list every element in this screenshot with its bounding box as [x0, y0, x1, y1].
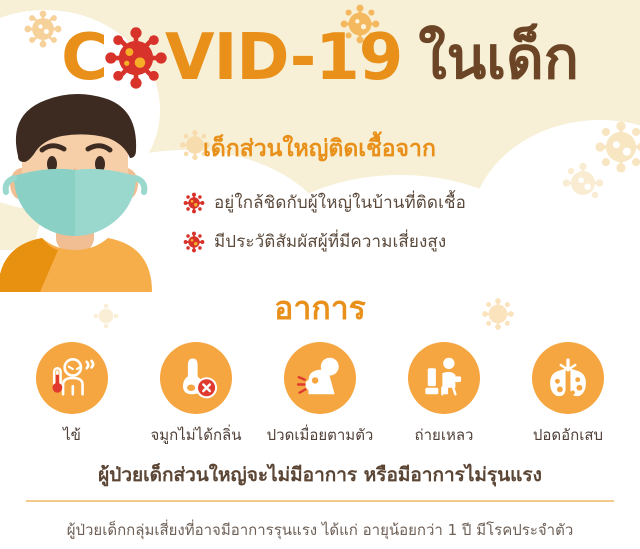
page-title: C VI	[0, 18, 640, 98]
body-ache-icon	[284, 342, 356, 414]
symptom-item-pneumonia: ปอดอักเสบ	[510, 342, 626, 447]
infographic-page: C VI	[0, 0, 640, 549]
symptoms-row: ไข้ จมูกไม่ได้กลิ่น	[14, 342, 626, 447]
symptom-label: ไข้	[63, 423, 81, 447]
list-item: อยู่ใกล้ชิดกับผู้ใหญ่ในบ้านที่ติดเชื้อ	[183, 183, 623, 222]
virus-bullet-icon	[183, 231, 205, 253]
pneumonia-icon	[532, 342, 604, 414]
symptom-item-diarrhea: ถ่ายเหลว	[386, 342, 502, 447]
list-item: มีประวัติสัมผัสผู้ที่มีความเสี่ยงสูง	[183, 222, 623, 261]
symptom-label: จมูกไม่ได้กลิ่น	[150, 423, 241, 447]
footnote-text: ผู้ป่วยเด็กกลุ่มเสี่ยงที่อาจมีอาการรุนแร…	[0, 518, 640, 542]
symptoms-heading: อาการ	[0, 283, 640, 334]
statement-text: ผู้ป่วยเด็กส่วนใหญ่จะไม่มีอาการ หรือมีอา…	[0, 460, 640, 490]
fever-icon	[36, 342, 108, 414]
boy-wearing-mask-illustration	[0, 92, 164, 292]
list-item-label: มีประวัติสัมผัสผู้ที่มีความเสี่ยงสูง	[214, 228, 446, 255]
symptom-label: ถ่ายเหลว	[415, 423, 474, 447]
diarrhea-icon	[408, 342, 480, 414]
symptom-item-no-smell: จมูกไม่ได้กลิ่น	[138, 342, 254, 447]
infection-bullet-list: อยู่ใกล้ชิดกับผู้ใหญ่ในบ้านที่ติดเชื้อ	[183, 183, 623, 261]
divider	[26, 500, 614, 502]
symptom-label: ปอดอักเสบ	[533, 423, 603, 447]
title-text-thai: ในเด็ก	[418, 29, 579, 87]
symptom-item-fever: ไข้	[14, 342, 130, 447]
symptom-label: ปวดเมื่อยตามตัว	[267, 423, 374, 447]
symptom-item-body-ache: ปวดเมื่อยตามตัว	[262, 342, 378, 447]
list-item-label: อยู่ใกล้ชิดกับผู้ใหญ่ในบ้านที่ติดเชื้อ	[214, 189, 466, 216]
title-letter-c: C	[61, 26, 107, 90]
infection-heading: เด็กส่วนใหญ่ติดเชื้อจาก	[203, 131, 436, 167]
virus-icon	[103, 25, 169, 91]
title-text-vid: VID-19	[165, 26, 402, 90]
no-smell-icon	[160, 342, 232, 414]
virus-bullet-icon	[183, 192, 205, 214]
